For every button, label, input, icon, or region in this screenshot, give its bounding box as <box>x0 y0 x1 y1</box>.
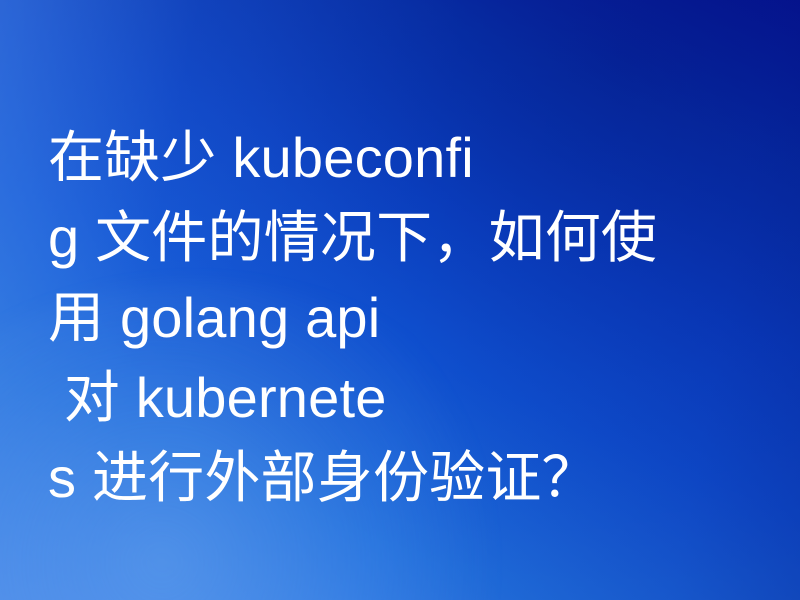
headline-line-1: 在缺少 kubeconfi <box>48 118 770 198</box>
headline-line-2: g 文件的情况下，如何使 <box>48 198 770 278</box>
headline-line-4: 对 kubernete <box>48 358 770 438</box>
headline-line-3: 用 golang api <box>48 278 770 358</box>
headline-line-5: s 进行外部身份验证？ <box>48 438 770 518</box>
title-card: 在缺少 kubeconfi g 文件的情况下，如何使 用 golang api … <box>0 0 800 600</box>
headline-text-block: 在缺少 kubeconfi g 文件的情况下，如何使 用 golang api … <box>48 118 770 518</box>
